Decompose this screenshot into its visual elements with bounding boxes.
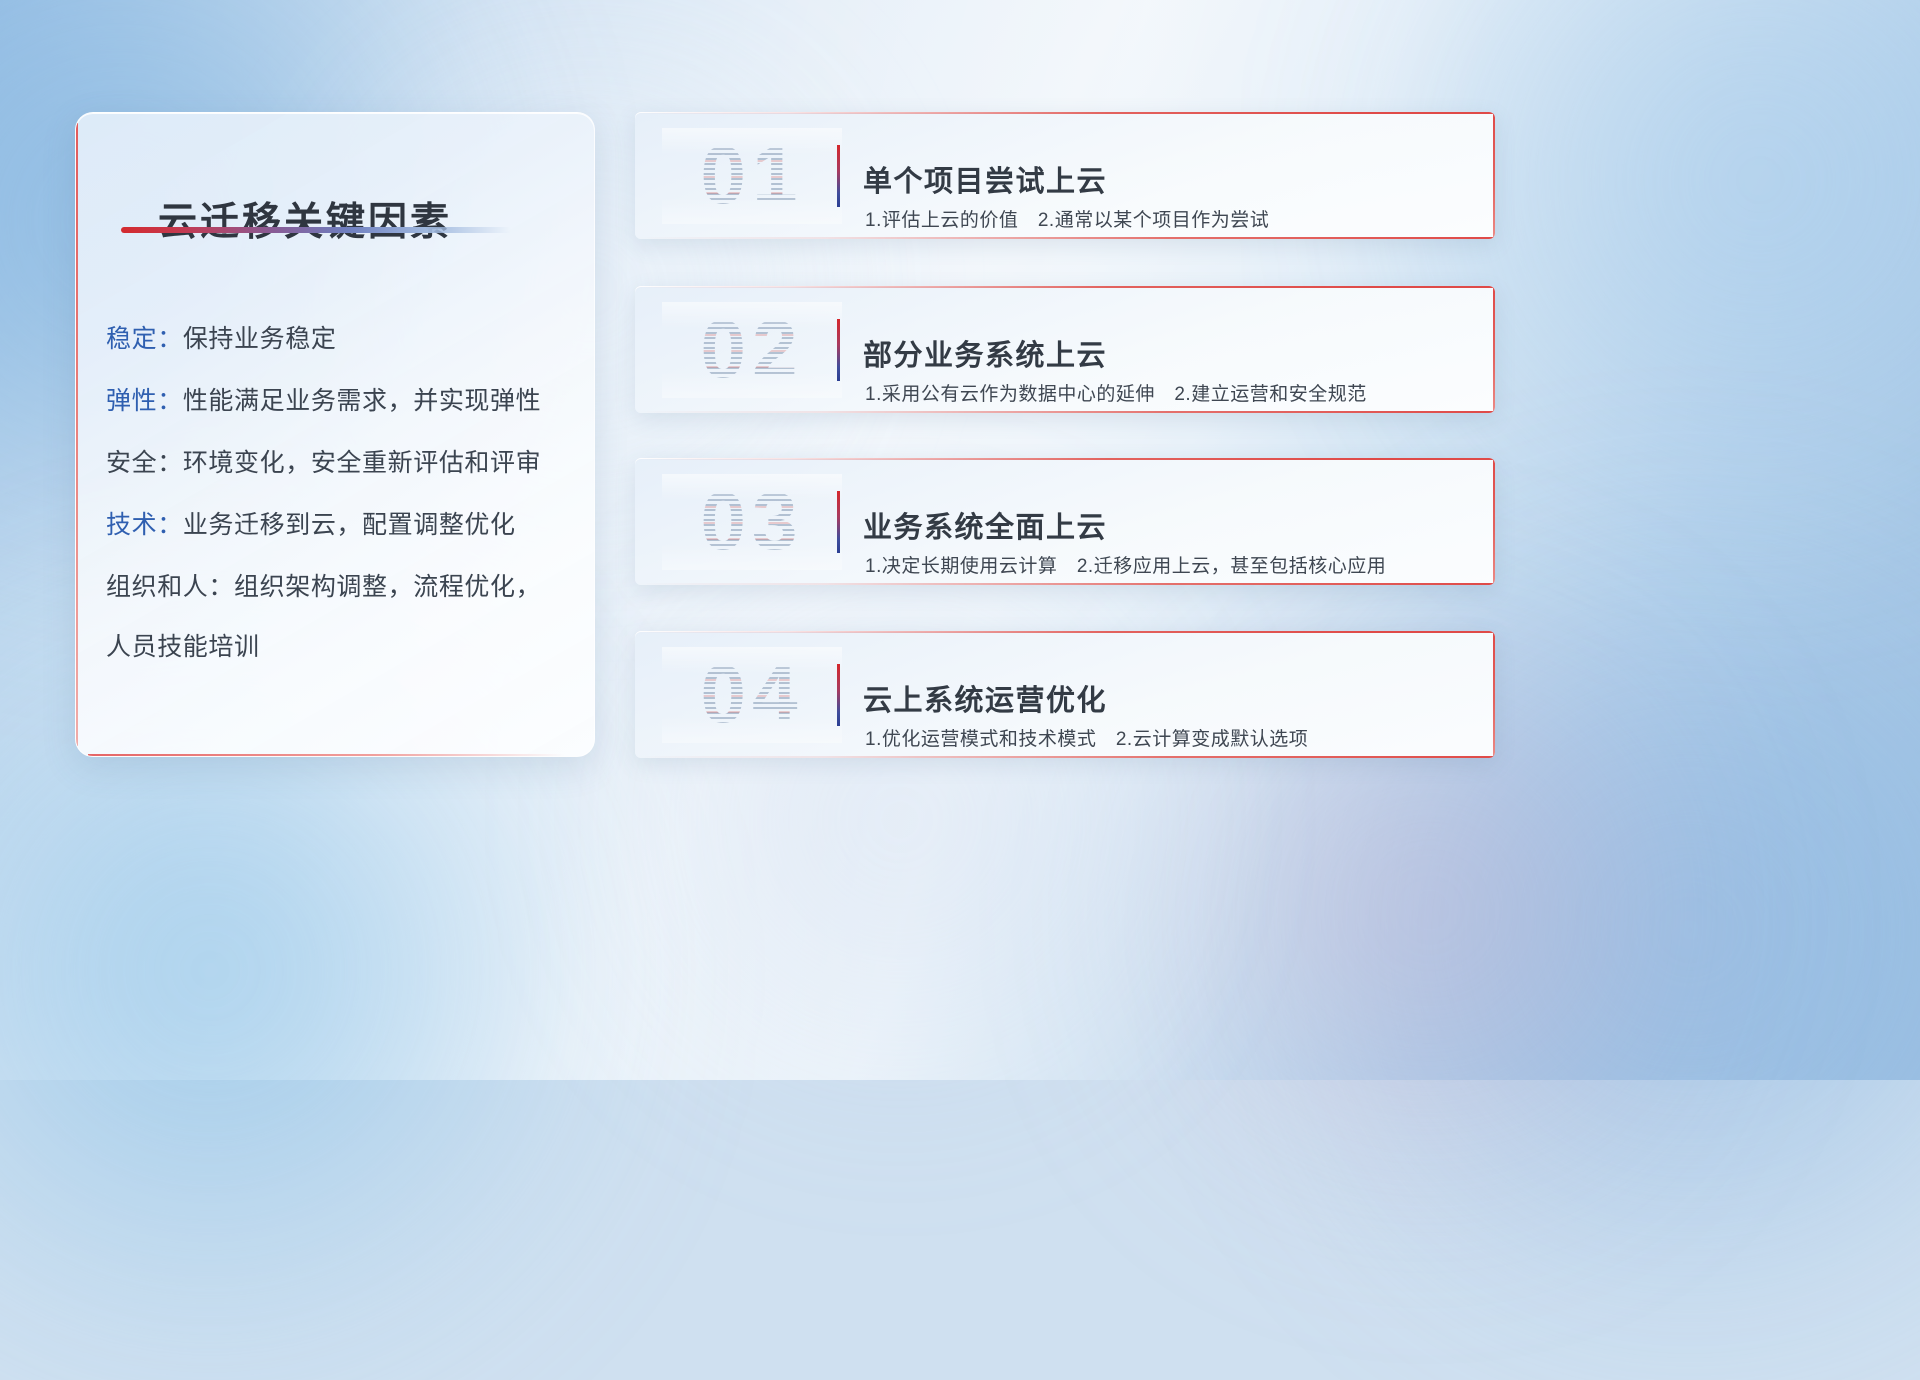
step-number-tint: 03 bbox=[662, 474, 842, 570]
panel-title: 云迁移关键因素 bbox=[158, 191, 452, 247]
step-subtext: 1.采用公有云作为数据中心的延伸 2.建立运营和安全规范 bbox=[865, 379, 1367, 406]
card-bottom-accent bbox=[635, 237, 1495, 239]
step-number-tint: 04 bbox=[662, 647, 842, 743]
factor-row: 组织和人：组织架构调整，流程优化， bbox=[106, 556, 570, 618]
factor-value: 业务迁移到云，配置调整优化 bbox=[183, 511, 516, 539]
step-number-graphic: 02 02 bbox=[662, 302, 842, 398]
step-number-graphic: 03 03 bbox=[662, 474, 842, 570]
card-right-accent bbox=[1493, 458, 1495, 585]
slide-stage: 云迁移关键因素 稳定：保持业务稳定 弹性：性能满足业务需求，并实现弹性 安全：环… bbox=[0, 0, 1920, 1080]
card-divider-bar bbox=[837, 145, 840, 207]
card-top-accent bbox=[635, 286, 1495, 288]
card-right-accent bbox=[1493, 112, 1495, 239]
step-heading: 云上系统运营优化 bbox=[863, 677, 1107, 719]
key-factors-panel: 云迁移关键因素 稳定：保持业务稳定 弹性：性能满足业务需求，并实现弹性 安全：环… bbox=[75, 112, 595, 757]
card-top-accent bbox=[635, 458, 1495, 460]
factor-key: 安全： bbox=[106, 449, 183, 477]
step-card-04[interactable]: 04 04 云上系统运营优化 1.优化运营模式和技术模式 2.云计算变成默认选项 bbox=[635, 631, 1495, 758]
factor-value: 人员技能培训 bbox=[106, 633, 260, 661]
factor-row: 技术：业务迁移到云，配置调整优化 bbox=[106, 494, 570, 556]
step-subtext: 1.优化运营模式和技术模式 2.云计算变成默认选项 bbox=[865, 724, 1308, 751]
step-number-graphic: 04 04 bbox=[662, 647, 842, 743]
card-right-accent bbox=[1493, 286, 1495, 413]
card-divider-bar bbox=[837, 664, 840, 726]
factor-value: 保持业务稳定 bbox=[183, 325, 337, 353]
card-bottom-accent bbox=[635, 756, 1495, 758]
factor-key: 技术： bbox=[106, 511, 183, 539]
factor-row: 稳定：保持业务稳定 bbox=[106, 308, 570, 370]
step-number-tint: 01 bbox=[662, 128, 842, 224]
factor-key: 稳定： bbox=[106, 325, 183, 353]
factor-row: 安全：环境变化，安全重新评估和评审 bbox=[106, 432, 570, 494]
step-subtext: 1.评估上云的价值 2.通常以某个项目作为尝试 bbox=[865, 205, 1269, 232]
card-divider-bar bbox=[837, 491, 840, 553]
step-number-tint: 02 bbox=[662, 302, 842, 398]
factor-key: 组织和人： bbox=[106, 573, 234, 601]
step-heading: 业务系统全面上云 bbox=[863, 504, 1107, 546]
card-top-accent bbox=[635, 112, 1495, 114]
step-card-01[interactable]: 01 01 单个项目尝试上云 1.评估上云的价值 2.通常以某个项目作为尝试 bbox=[635, 112, 1495, 239]
factor-value: 组织架构调整，流程优化， bbox=[234, 573, 541, 601]
title-underline-rule bbox=[121, 227, 511, 233]
step-heading: 部分业务系统上云 bbox=[863, 332, 1107, 374]
card-divider-bar bbox=[837, 319, 840, 381]
step-card-02[interactable]: 02 02 部分业务系统上云 1.采用公有云作为数据中心的延伸 2.建立运营和安… bbox=[635, 286, 1495, 413]
step-card-03[interactable]: 03 03 业务系统全面上云 1.决定长期使用云计算 2.迁移应用上云，甚至包括… bbox=[635, 458, 1495, 585]
key-factors-list: 稳定：保持业务稳定 弹性：性能满足业务需求，并实现弹性 安全：环境变化，安全重新… bbox=[106, 308, 570, 678]
card-bottom-accent bbox=[635, 583, 1495, 585]
step-heading: 单个项目尝试上云 bbox=[863, 158, 1107, 200]
step-subtext: 1.决定长期使用云计算 2.迁移应用上云，甚至包括核心应用 bbox=[865, 551, 1386, 578]
card-right-accent bbox=[1493, 631, 1495, 758]
step-number-graphic: 01 01 bbox=[662, 128, 842, 224]
factor-value: 性能满足业务需求，并实现弹性 bbox=[183, 387, 541, 415]
factor-key: 弹性： bbox=[106, 387, 183, 415]
card-bottom-accent bbox=[635, 411, 1495, 413]
factor-row-continuation: 人员技能培训 bbox=[106, 616, 570, 678]
factor-row: 弹性：性能满足业务需求，并实现弹性 bbox=[106, 370, 570, 432]
card-top-accent bbox=[635, 631, 1495, 633]
factor-value: 环境变化，安全重新评估和评审 bbox=[183, 449, 541, 477]
